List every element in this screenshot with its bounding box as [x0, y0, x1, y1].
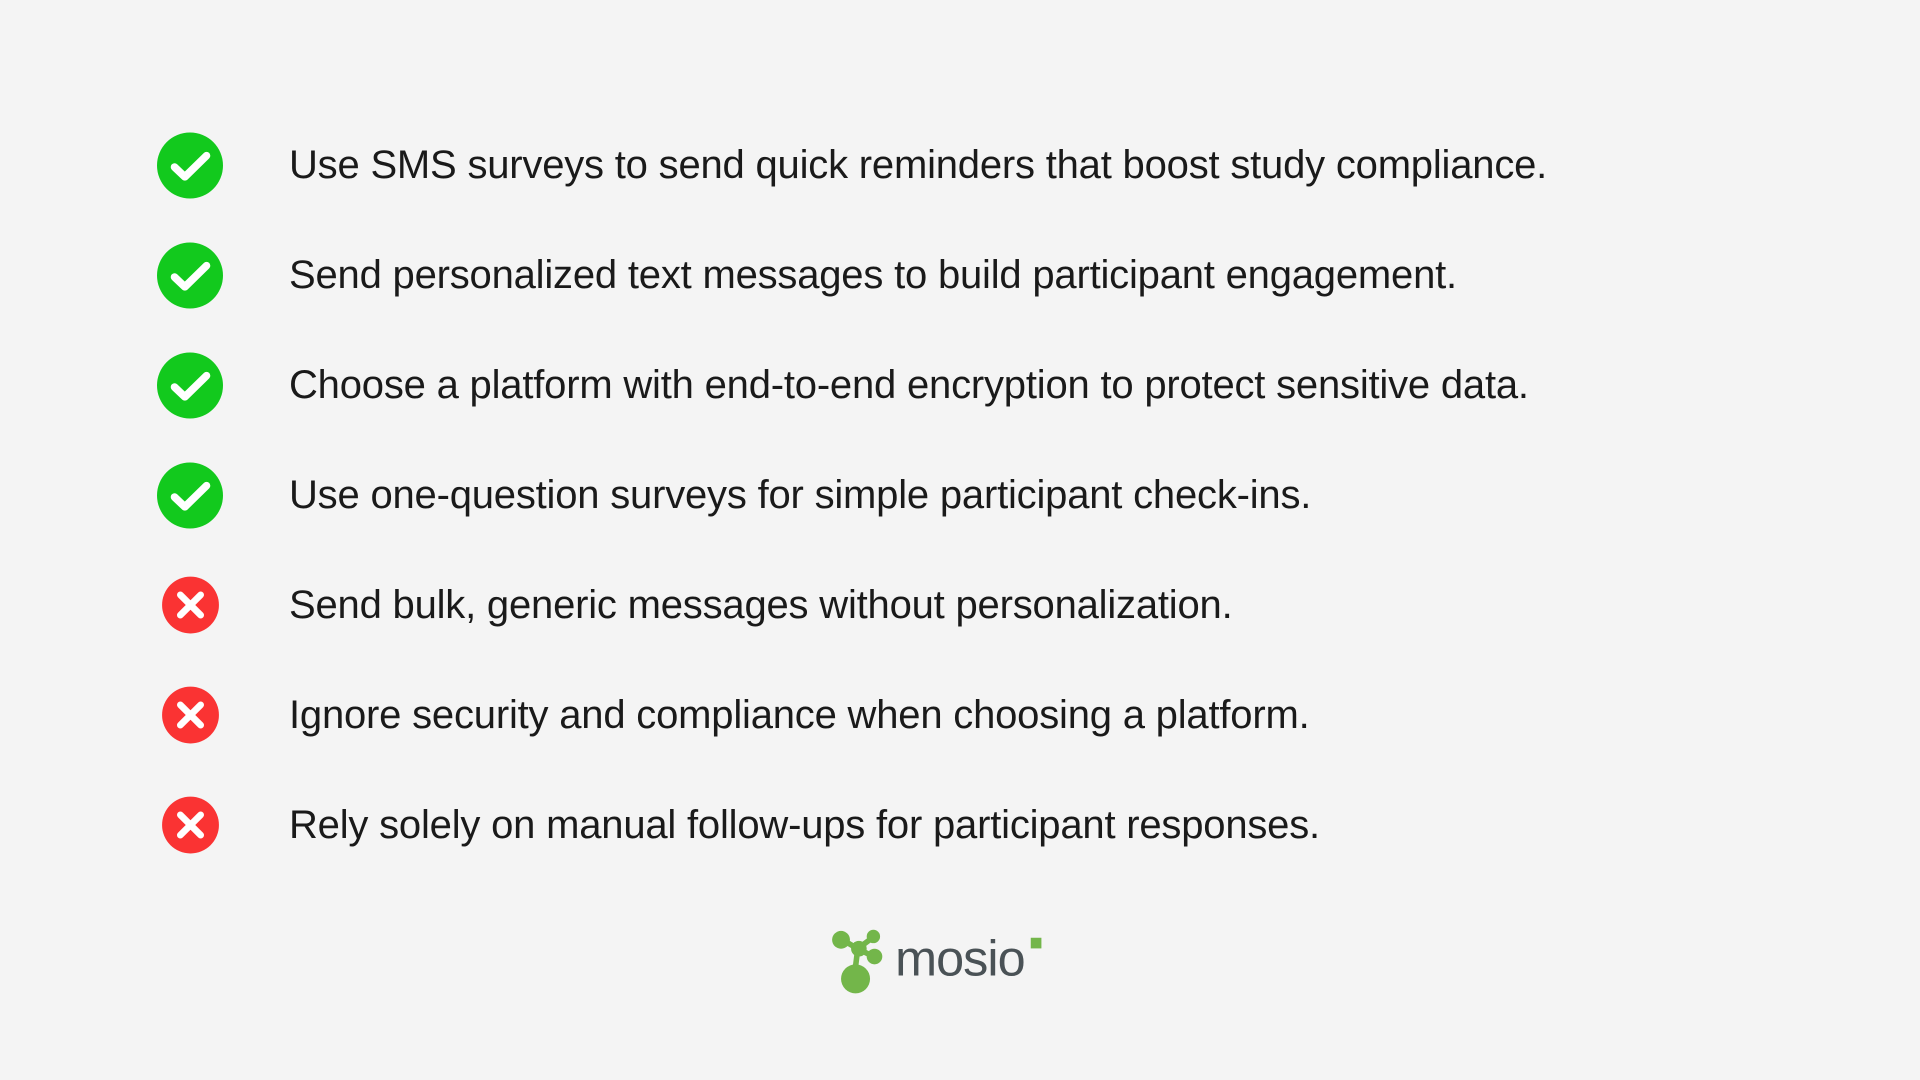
check-circle-icon: [157, 460, 223, 530]
list-item-label: Send bulk, generic messages without pers…: [289, 581, 1233, 629]
list-item: Ignore security and compliance when choo…: [0, 660, 1920, 770]
list-item: Send personalized text messages to build…: [0, 220, 1920, 330]
svg-text:mosio: mosio: [895, 930, 1025, 987]
check-circle-icon: [157, 350, 223, 420]
list-item-label: Rely solely on manual follow-ups for par…: [289, 801, 1320, 849]
list-item-label: Choose a platform with end-to-end encryp…: [289, 361, 1529, 409]
list-item: Use one-question surveys for simple part…: [0, 440, 1920, 550]
check-circle-icon: [157, 130, 223, 200]
brand-wordmark: mosio: [895, 930, 1089, 992]
list-item-label: Use one-question surveys for simple part…: [289, 471, 1311, 519]
list-item: Use SMS surveys to send quick reminders …: [0, 110, 1920, 220]
cross-circle-icon: [157, 680, 223, 750]
list-item-label: Send personalized text messages to build…: [289, 251, 1457, 299]
dos-and-donts-list: Use SMS surveys to send quick reminders …: [0, 110, 1920, 880]
list-item-label: Ignore security and compliance when choo…: [289, 691, 1309, 739]
cross-circle-icon: [157, 570, 223, 640]
check-circle-icon: [157, 240, 223, 310]
mosio-nodes-logo-icon: [831, 925, 889, 997]
brand-logo: mosio: [0, 925, 1920, 997]
list-item: Send bulk, generic messages without pers…: [0, 550, 1920, 660]
list-item: Rely solely on manual follow-ups for par…: [0, 770, 1920, 880]
cross-circle-icon: [157, 790, 223, 860]
list-item: Choose a platform with end-to-end encryp…: [0, 330, 1920, 440]
list-item-label: Use SMS surveys to send quick reminders …: [289, 141, 1547, 189]
page-root: Use SMS surveys to send quick reminders …: [0, 0, 1920, 1080]
